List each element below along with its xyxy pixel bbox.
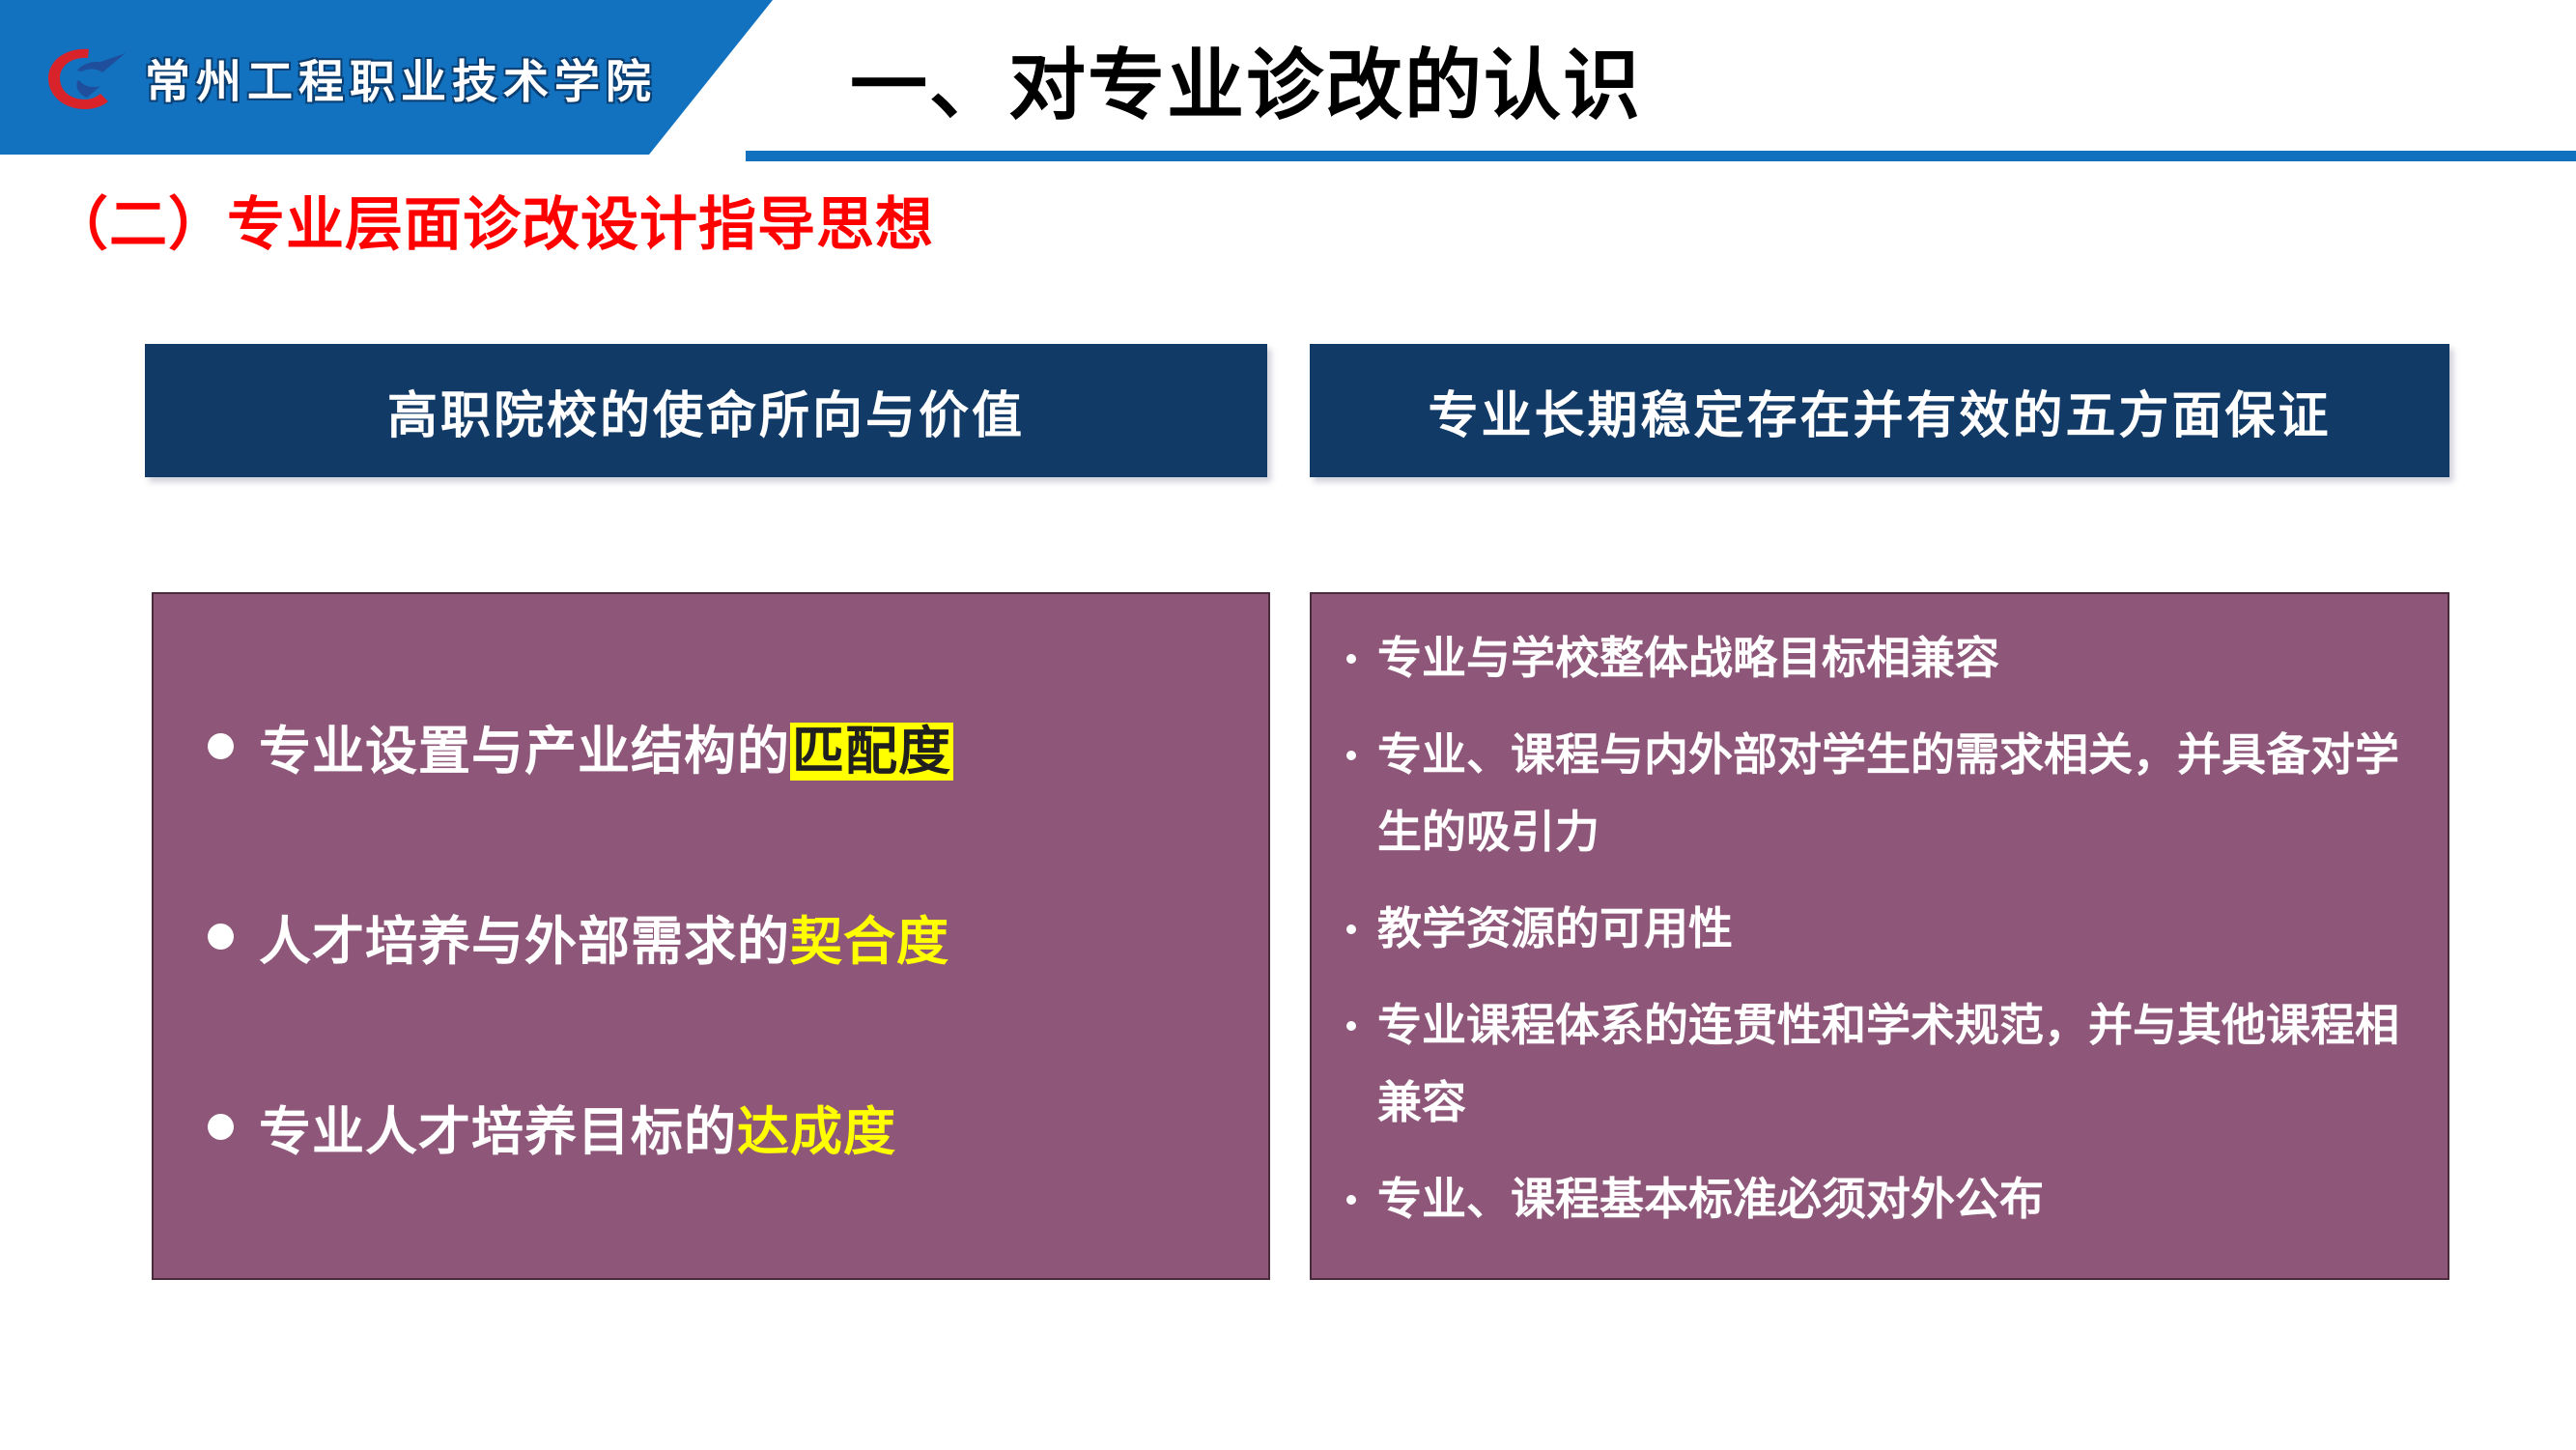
list-item-keyword: 达成度	[737, 1103, 896, 1161]
bullet-dot-icon	[1346, 751, 1356, 760]
right-bullet-list: 专业与学校整体战略目标相兼容 专业、课程与内外部对学生的需求相关，并具备对学生的…	[1312, 619, 2448, 1257]
right-column-header: 专业长期稳定存在并有效的五方面保证	[1310, 344, 2449, 477]
right-content-panel: 专业与学校整体战略目标相兼容 专业、课程与内外部对学生的需求相关，并具备对学生的…	[1310, 592, 2449, 1280]
list-item-text: 专业、课程基本标准必须对外公布	[1377, 1160, 2044, 1237]
section-subtitle: （二）专业层面诊改设计指导思想	[50, 178, 934, 262]
list-item: 教学资源的可用性	[1346, 890, 2422, 967]
list-item-text: 专业课程体系的连贯性和学术规范，并与其他课程相兼容	[1377, 986, 2422, 1141]
bullet-dot-icon	[1346, 924, 1356, 934]
swoosh-logo-icon	[44, 42, 127, 113]
list-item-text: 专业、课程与内外部对学生的需求相关，并具备对学生的吸引力	[1377, 716, 2422, 870]
list-item-text: 专业与学校整体战略目标相兼容	[1377, 619, 1999, 697]
slide-canvas: 常州工程职业技术学院 一、对专业诊改的认识 （二）专业层面诊改设计指导思想 高职…	[0, 0, 2576, 1450]
list-item-prefix: 人才培养与外部需求的	[259, 913, 790, 971]
header-divider	[746, 151, 2576, 161]
school-logo: 常州工程职业技术学院	[44, 29, 721, 126]
bullet-dot-icon	[1346, 1195, 1356, 1205]
list-item: 专业与学校整体战略目标相兼容	[1346, 619, 2422, 697]
left-content-panel: 专业设置与产业结构的匹配度 人才培养与外部需求的契合度 专业人才培养目标的达成度	[152, 592, 1270, 1280]
list-item: 人才培养与外部需求的契合度	[208, 898, 1268, 975]
list-item-text: 教学资源的可用性	[1377, 890, 1733, 967]
left-bullet-list: 专业设置与产业结构的匹配度 人才培养与外部需求的契合度 专业人才培养目标的达成度	[154, 594, 1268, 1278]
bullet-dot-icon	[208, 1114, 234, 1140]
bullet-dot-icon	[1346, 654, 1356, 664]
list-item-prefix: 专业设置与产业结构的	[259, 723, 790, 781]
left-column-header: 高职院校的使命所向与价值	[145, 344, 1267, 477]
list-item-text: 专业人才培养目标的达成度	[259, 1089, 896, 1165]
list-item-text: 专业设置与产业结构的匹配度	[259, 708, 953, 784]
bullet-dot-icon	[208, 733, 234, 759]
bullet-dot-icon	[208, 924, 234, 950]
list-item-keyword: 契合度	[790, 913, 949, 971]
list-item-prefix: 专业人才培养目标的	[259, 1103, 737, 1161]
list-item-text: 人才培养与外部需求的契合度	[259, 898, 949, 975]
school-name-label: 常州工程职业技术学院	[145, 44, 657, 111]
list-item-keyword: 匹配度	[790, 723, 953, 781]
list-item: 专业、课程与内外部对学生的需求相关，并具备对学生的吸引力	[1346, 716, 2422, 870]
list-item: 专业人才培养目标的达成度	[208, 1089, 1268, 1165]
bullet-dot-icon	[1346, 1021, 1356, 1031]
left-column-header-label: 高职院校的使命所向与价值	[387, 375, 1025, 447]
list-item: 专业、课程基本标准必须对外公布	[1346, 1160, 2422, 1237]
right-column-header-label: 专业长期稳定存在并有效的五方面保证	[1428, 375, 2331, 447]
list-item: 专业课程体系的连贯性和学术规范，并与其他课程相兼容	[1346, 986, 2422, 1141]
page-title: 一、对专业诊改的认识	[850, 23, 2299, 134]
list-item: 专业设置与产业结构的匹配度	[208, 708, 1268, 784]
